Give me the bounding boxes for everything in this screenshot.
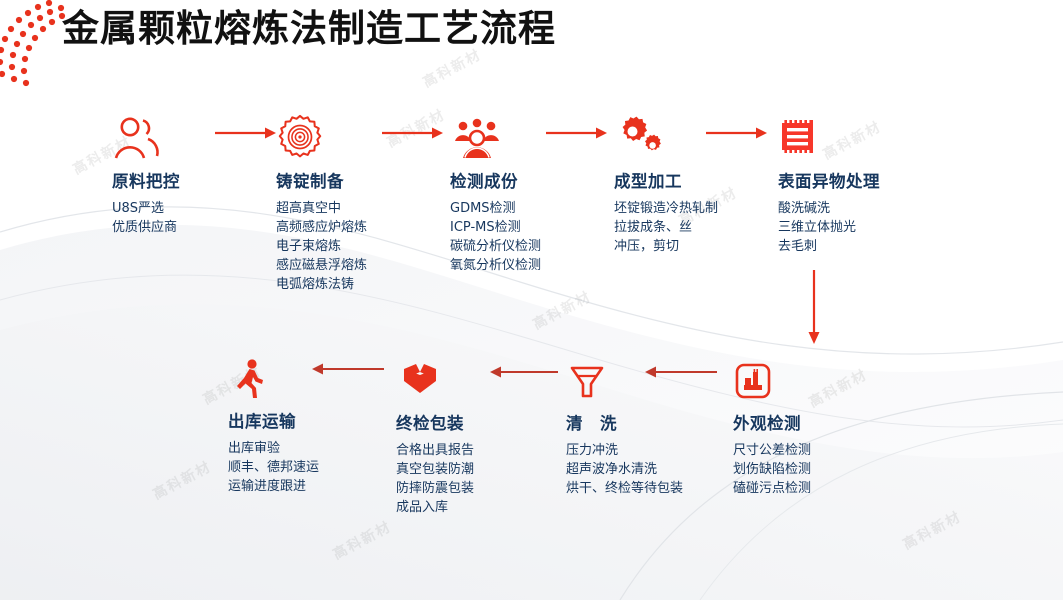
two-gears-icon xyxy=(614,110,718,160)
step-line: 超声波净水清洗 xyxy=(566,460,684,479)
step-line: 高频感应炉熔炼 xyxy=(276,218,367,237)
step-title: 终检包装 xyxy=(396,410,514,434)
step-line: 防摔防震包装 xyxy=(396,479,514,498)
step-title: 清 洗 xyxy=(566,410,684,434)
step-raw-material-control[interactable]: 原料把控 U8S严选 优质供应商 xyxy=(112,110,180,237)
step-lines: 坯锭锻造冷热轧制 拉拔成条、丝 冲压，剪切 xyxy=(614,199,718,256)
step-line: GDMS检测 xyxy=(450,199,541,218)
step-line: 去毛刺 xyxy=(778,237,880,256)
step-line: 碳硫分析仪检测 xyxy=(450,237,541,256)
step-line: 成品入库 xyxy=(396,498,514,517)
step-line: 拉拔成条、丝 xyxy=(614,218,718,237)
step-line: 电子束熔炼 xyxy=(276,237,367,256)
step-line: 尺寸公差检测 xyxy=(733,441,851,460)
step-ingot-preparation[interactable]: 铸锭制备 超高真空中 高频感应炉熔炼 电子束熔炼 感应磁悬浮熔炼 电弧熔炼法铸 xyxy=(276,110,367,294)
step-composition-detection[interactable]: 检测成份 GDMS检测 ICP-MS检测 碳硫分析仪检测 氧氮分析仪检测 xyxy=(450,110,541,275)
arrow-right-1 xyxy=(215,126,277,145)
step-line: 压力冲洗 xyxy=(566,441,684,460)
watermark: 高科新材 xyxy=(899,506,965,554)
step-lines: 合格出具报告 真空包装防潮 防摔防震包装 成品入库 xyxy=(396,441,514,517)
factory-inspect-icon xyxy=(733,352,851,402)
step-line: 合格出具报告 xyxy=(396,441,514,460)
step-line: 运输进度跟进 xyxy=(228,477,346,496)
step-line: 坯锭锻造冷热轧制 xyxy=(614,199,718,218)
watermark: 高科新材 xyxy=(329,516,395,564)
gear-circles-icon xyxy=(276,110,367,160)
two-users-icon xyxy=(112,110,180,160)
step-line: 三维立体抛光 xyxy=(778,218,880,237)
step-line: 优质供应商 xyxy=(112,218,180,237)
arrow-right-3 xyxy=(546,126,608,145)
step-title: 外观检测 xyxy=(733,410,851,434)
step-title: 表面异物处理 xyxy=(778,168,880,192)
funnel-icon xyxy=(566,352,684,402)
step-lines: 压力冲洗 超声波净水清洗 烘干、终检等待包装 xyxy=(566,441,684,498)
step-line: 感应磁悬浮熔炼 xyxy=(276,256,367,275)
step-surface-foreign-matter-treatment[interactable]: 表面异物处理 酸洗碱洗 三维立体抛光 去毛刺 xyxy=(778,110,880,256)
step-line: 真空包装防潮 xyxy=(396,460,514,479)
step-lines: 超高真空中 高频感应炉熔炼 电子束熔炼 感应磁悬浮熔炼 电弧熔炼法铸 xyxy=(276,199,367,294)
step-lines: U8S严选 优质供应商 xyxy=(112,199,180,237)
step-line: U8S严选 xyxy=(112,199,180,218)
step-line: 出库审验 xyxy=(228,439,346,458)
step-appearance-inspection[interactable]: 外观检测 尺寸公差检测 划伤缺陷检测 磕碰污点检测 xyxy=(733,352,851,498)
step-lines: 出库审验 顺丰、德邦速运 运输进度跟进 xyxy=(228,439,346,496)
people-group-icon xyxy=(450,110,541,160)
step-line: 氧氮分析仪检测 xyxy=(450,256,541,275)
running-person-icon xyxy=(228,350,346,400)
watermark: 高科新材 xyxy=(529,286,595,334)
arrow-right-4 xyxy=(706,126,768,145)
list-document-icon xyxy=(778,110,880,160)
page-title: 金属颗粒熔炼法制造工艺流程 xyxy=(62,6,556,52)
step-title: 出库运输 xyxy=(228,408,346,432)
step-line: 电弧熔炼法铸 xyxy=(276,275,367,294)
step-lines: 尺寸公差检测 划伤缺陷检测 磕碰污点检测 xyxy=(733,441,851,498)
step-outbound-transport[interactable]: 出库运输 出库审验 顺丰、德邦速运 运输进度跟进 xyxy=(228,350,346,496)
step-line: 酸洗碱洗 xyxy=(778,199,880,218)
step-line: 超高真空中 xyxy=(276,199,367,218)
step-cleaning[interactable]: 清 洗 压力冲洗 超声波净水清洗 烘干、终检等待包装 xyxy=(566,352,684,498)
step-final-inspection-packaging[interactable]: 终检包装 合格出具报告 真空包装防潮 防摔防震包装 成品入库 xyxy=(396,352,514,517)
arrow-down-5 xyxy=(806,270,822,350)
step-title: 铸锭制备 xyxy=(276,168,367,192)
step-line: ICP-MS检测 xyxy=(450,218,541,237)
step-line: 磕碰污点检测 xyxy=(733,479,851,498)
open-box-icon xyxy=(396,352,514,402)
step-lines: GDMS检测 ICP-MS检测 碳硫分析仪检测 氧氮分析仪检测 xyxy=(450,199,541,275)
step-line: 冲压，剪切 xyxy=(614,237,718,256)
step-title: 检测成份 xyxy=(450,168,541,192)
step-lines: 酸洗碱洗 三维立体抛光 去毛刺 xyxy=(778,199,880,256)
step-title: 原料把控 xyxy=(112,168,180,192)
step-title: 成型加工 xyxy=(614,168,718,192)
step-forming-processing[interactable]: 成型加工 坯锭锻造冷热轧制 拉拔成条、丝 冲压，剪切 xyxy=(614,110,718,256)
watermark: 高科新材 xyxy=(149,456,215,504)
arrow-right-2 xyxy=(382,126,444,145)
background-swoosh xyxy=(0,0,1063,600)
step-line: 顺丰、德邦速运 xyxy=(228,458,346,477)
step-line: 烘干、终检等待包装 xyxy=(566,479,684,498)
step-line: 划伤缺陷检测 xyxy=(733,460,851,479)
